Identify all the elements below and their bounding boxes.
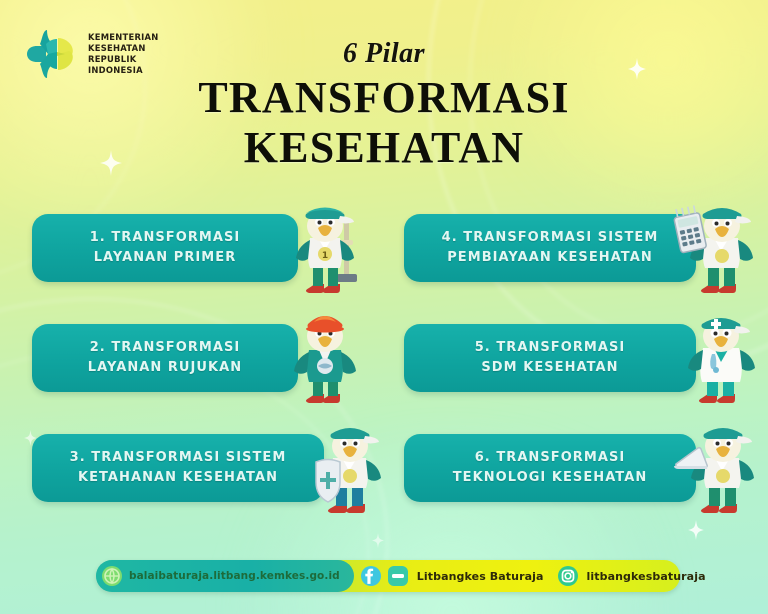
pillar-label-5: 5. TRANSFORMASI SDM KESEHATAN xyxy=(475,338,626,378)
website-label: balaibaturaja.litbang.kemkes.go.id xyxy=(129,570,340,582)
globe-icon xyxy=(101,565,123,587)
title-line-1: TRANSFORMASI xyxy=(0,74,768,122)
pillar-item-1[interactable]: 1. TRANSFORMASI LAYANAN PRIMER 1 xyxy=(32,214,372,286)
pillar-pill-3[interactable]: 3. TRANSFORMASI SISTEM KETAHANAN KESEHAT… xyxy=(32,434,324,502)
social-handle-fb-yt: Litbangkes Baturaja xyxy=(417,570,544,583)
footer-bar: balaibaturaja.litbang.kemkes.go.id Litba… xyxy=(96,560,680,592)
infographic-canvas: KEMENTERIAN KESEHATAN REPUBLIK INDONESIA… xyxy=(0,0,768,614)
pillar-label-6: 6. TRANSFORMASI TEKNOLOGI KESEHATAN xyxy=(453,448,648,488)
facebook-icon[interactable] xyxy=(360,565,382,587)
sparkle-icon xyxy=(372,533,384,548)
page-title: 6 Pilar TRANSFORMASI KESEHATAN xyxy=(0,38,768,171)
title-kicker: 6 Pilar xyxy=(0,38,768,70)
pillar-label-1: 1. TRANSFORMASI LAYANAN PRIMER xyxy=(90,228,241,268)
pillar-item-4[interactable]: 4. TRANSFORMASI SISTEM PEMBIAYAAN KESEHA… xyxy=(404,214,744,286)
pillars-grid: 1. TRANSFORMASI LAYANAN PRIMER 1 xyxy=(0,196,768,516)
sparkle-icon xyxy=(688,520,704,540)
pillar-item-3[interactable]: 3. TRANSFORMASI SISTEM KETAHANAN KESEHAT… xyxy=(32,434,372,506)
pillar-item-5[interactable]: 5. TRANSFORMASI SDM KESEHATAN xyxy=(404,324,744,396)
social-handle-ig: litbangkesbaturaja xyxy=(587,570,706,583)
youtube-icon[interactable] xyxy=(387,565,409,587)
pillar-pill-6[interactable]: 6. TRANSFORMASI TEKNOLOGI KESEHATAN xyxy=(404,434,696,502)
svg-text:1: 1 xyxy=(322,251,328,261)
pillar-item-2[interactable]: 2. TRANSFORMASI LAYANAN RUJUKAN xyxy=(32,324,372,396)
instagram-icon[interactable] xyxy=(557,565,579,587)
pillar-pill-4[interactable]: 4. TRANSFORMASI SISTEM PEMBIAYAAN KESEHA… xyxy=(404,214,696,282)
pillar-label-3: 3. TRANSFORMASI SISTEM KETAHANAN KESEHAT… xyxy=(70,448,287,488)
pillar-pill-1[interactable]: 1. TRANSFORMASI LAYANAN PRIMER xyxy=(32,214,298,282)
website-chip[interactable]: balaibaturaja.litbang.kemkes.go.id xyxy=(96,560,354,592)
pillar-pill-5[interactable]: 5. TRANSFORMASI SDM KESEHATAN xyxy=(404,324,696,392)
pillar-pill-2[interactable]: 2. TRANSFORMASI LAYANAN RUJUKAN xyxy=(32,324,298,392)
social-links: Litbangkes Baturaja litbangkesbaturaja xyxy=(354,565,714,587)
title-line-2: KESEHATAN xyxy=(0,124,768,172)
pillar-label-2: 2. TRANSFORMASI LAYANAN RUJUKAN xyxy=(88,338,242,378)
pillar-label-4: 4. TRANSFORMASI SISTEM PEMBIAYAAN KESEHA… xyxy=(442,228,659,268)
pillar-item-6[interactable]: 6. TRANSFORMASI TEKNOLOGI KESEHATAN xyxy=(404,434,744,506)
